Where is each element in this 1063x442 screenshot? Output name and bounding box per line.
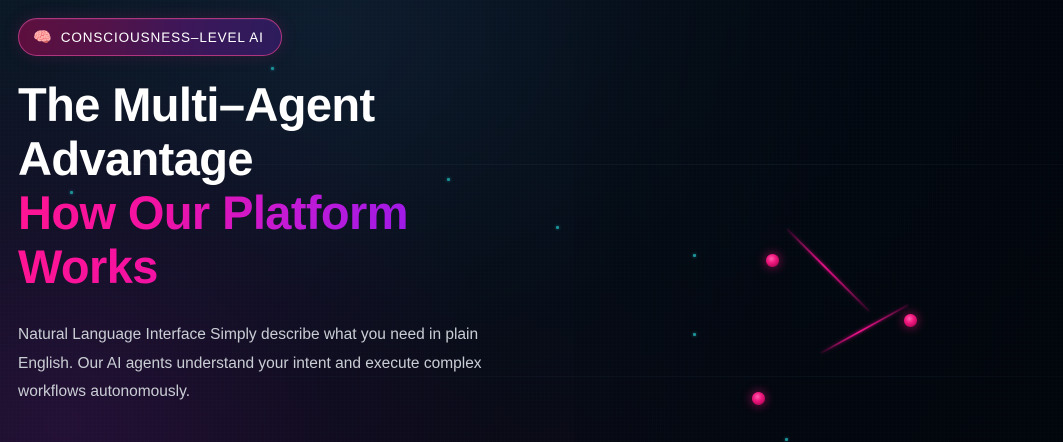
headline-line-2: Advantage [18,132,418,186]
brain-icon: 🧠 [33,30,52,45]
headline-line-1: The Multi–Agent [18,78,418,132]
status-badge[interactable]: 🧠 CONSCIOUSNESS–LEVEL AI [18,18,282,56]
hero-section: 🧠 CONSCIOUSNESS–LEVEL AI The Multi–Agent… [0,0,1063,442]
headline-line-4: Works [18,240,418,294]
headline-line-3: How Our Platform [18,186,418,240]
hero-description: Natural Language Interface Simply descri… [18,321,518,407]
hero-content: 🧠 CONSCIOUSNESS–LEVEL AI The Multi–Agent… [18,18,638,407]
status-badge-label: CONSCIOUSNESS–LEVEL AI [61,30,264,45]
page-title: The Multi–Agent Advantage How Our Platfo… [18,78,418,294]
